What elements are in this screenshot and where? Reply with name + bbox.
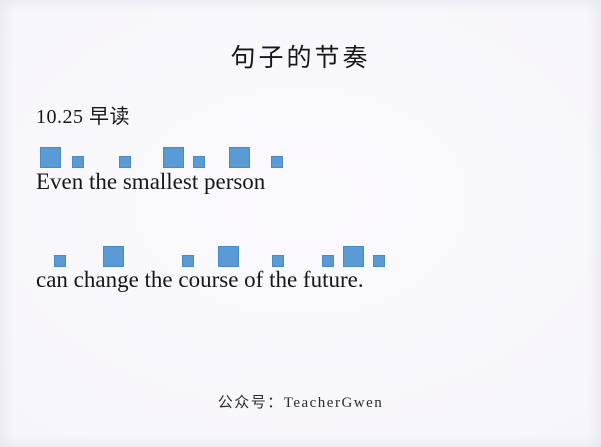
slide-title: 句子的节奏	[0, 44, 601, 74]
beat-marker-weak	[271, 156, 283, 168]
beat-marker-strong	[218, 246, 239, 267]
beat-marker-weak	[72, 156, 84, 168]
beat-marker-strong	[343, 246, 364, 267]
slide-subtitle: 10.25 早读	[36, 104, 130, 130]
beat-marker-strong	[163, 147, 184, 168]
beat-marker-strong	[40, 147, 61, 168]
beat-marker-weak	[119, 156, 131, 168]
beat-marker-weak	[193, 156, 205, 168]
beat-marker-strong	[229, 147, 250, 168]
beat-marker-weak	[373, 255, 385, 267]
sentence-line-1: Even the smallest person	[36, 168, 265, 196]
beat-marker-strong	[103, 246, 124, 267]
footer-credit: 公众号：TeacherGwen	[0, 393, 601, 413]
sentence-line-2: can change the course of the future.	[36, 266, 364, 294]
slide-canvas: 句子的节奏 10.25 早读 Even the smallest person …	[0, 0, 601, 447]
